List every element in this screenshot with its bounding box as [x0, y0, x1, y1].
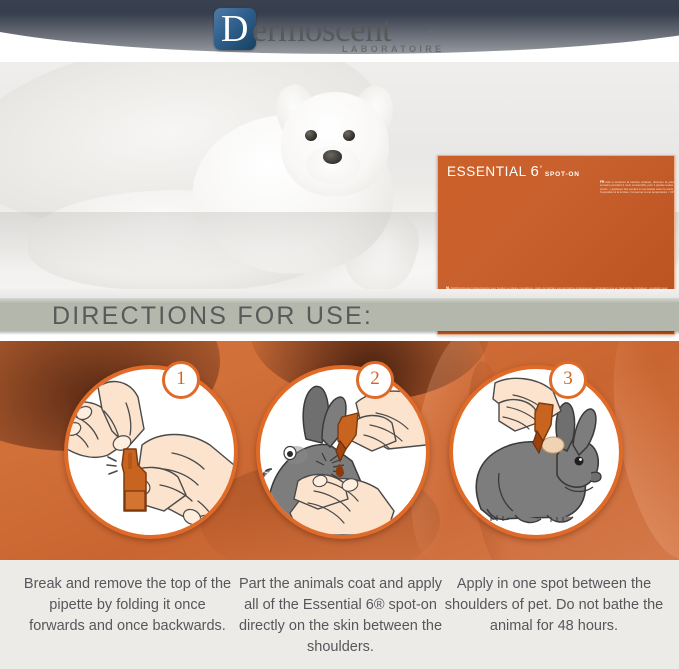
captions-area: Break and remove the top of the pipette …	[0, 560, 679, 669]
label-title-six: 6	[531, 163, 540, 180]
step-3-caption: Apply in one spot between the shoulders …	[444, 574, 664, 637]
label-text-fr: Aide à renforcer la barrière cutanée, di…	[600, 180, 675, 194]
step-3-artwork-icon	[453, 369, 619, 535]
step-1-artwork-icon	[68, 369, 234, 535]
step-3-illustration	[449, 365, 623, 539]
logo-letter: D	[221, 7, 248, 51]
lower-hand-shape	[290, 474, 394, 535]
puppy-eye-right	[343, 130, 355, 141]
puppy-eye-left	[305, 130, 317, 141]
product-instruction-page: D ermoscent ® LABORATOIRE ESSENTIAL 6°SP…	[0, 0, 679, 669]
puppy-nose	[323, 150, 342, 164]
directions-banner: DIRECTIONS FOR USE:	[0, 289, 679, 341]
application-spot-shape	[542, 437, 564, 453]
label-title: ESSENTIAL 6°SPOT-ON	[447, 163, 580, 180]
step-1-caption: Break and remove the top of the pipette …	[20, 574, 235, 637]
snap-lines	[107, 457, 117, 474]
step-1-illustration	[64, 365, 238, 539]
directions-heading: DIRECTIONS FOR USE:	[52, 302, 373, 331]
registered-trademark-icon: ®	[428, 28, 435, 38]
step-2-number-badge: 2	[356, 361, 394, 399]
logo-mark-icon: D	[214, 8, 256, 50]
logo-tagline: LABORATOIRE	[342, 44, 445, 54]
steps-illustration-area: 1	[0, 341, 679, 560]
step-2-caption: Part the animals coat and apply all of t…	[238, 574, 443, 658]
page-header: D ermoscent ® LABORATOIRE	[0, 0, 679, 62]
label-title-text: ESSENTIAL	[447, 164, 526, 179]
step-1-number-badge: 1	[162, 361, 200, 399]
label-section-fr: FR Aide à renforcer la barrière cutanée,…	[600, 181, 675, 194]
step-2-illustration	[256, 365, 430, 539]
label-spot-on: SPOT-ON	[545, 171, 580, 178]
upper-hand-shape	[352, 391, 426, 451]
step-3-number-badge: 3	[549, 361, 587, 399]
banner-drop-shadow	[0, 331, 679, 335]
brand-logo: D ermoscent ® LABORATOIRE	[214, 8, 466, 56]
label-title-degree: °	[540, 166, 543, 173]
step-2-artwork-icon	[260, 369, 426, 535]
